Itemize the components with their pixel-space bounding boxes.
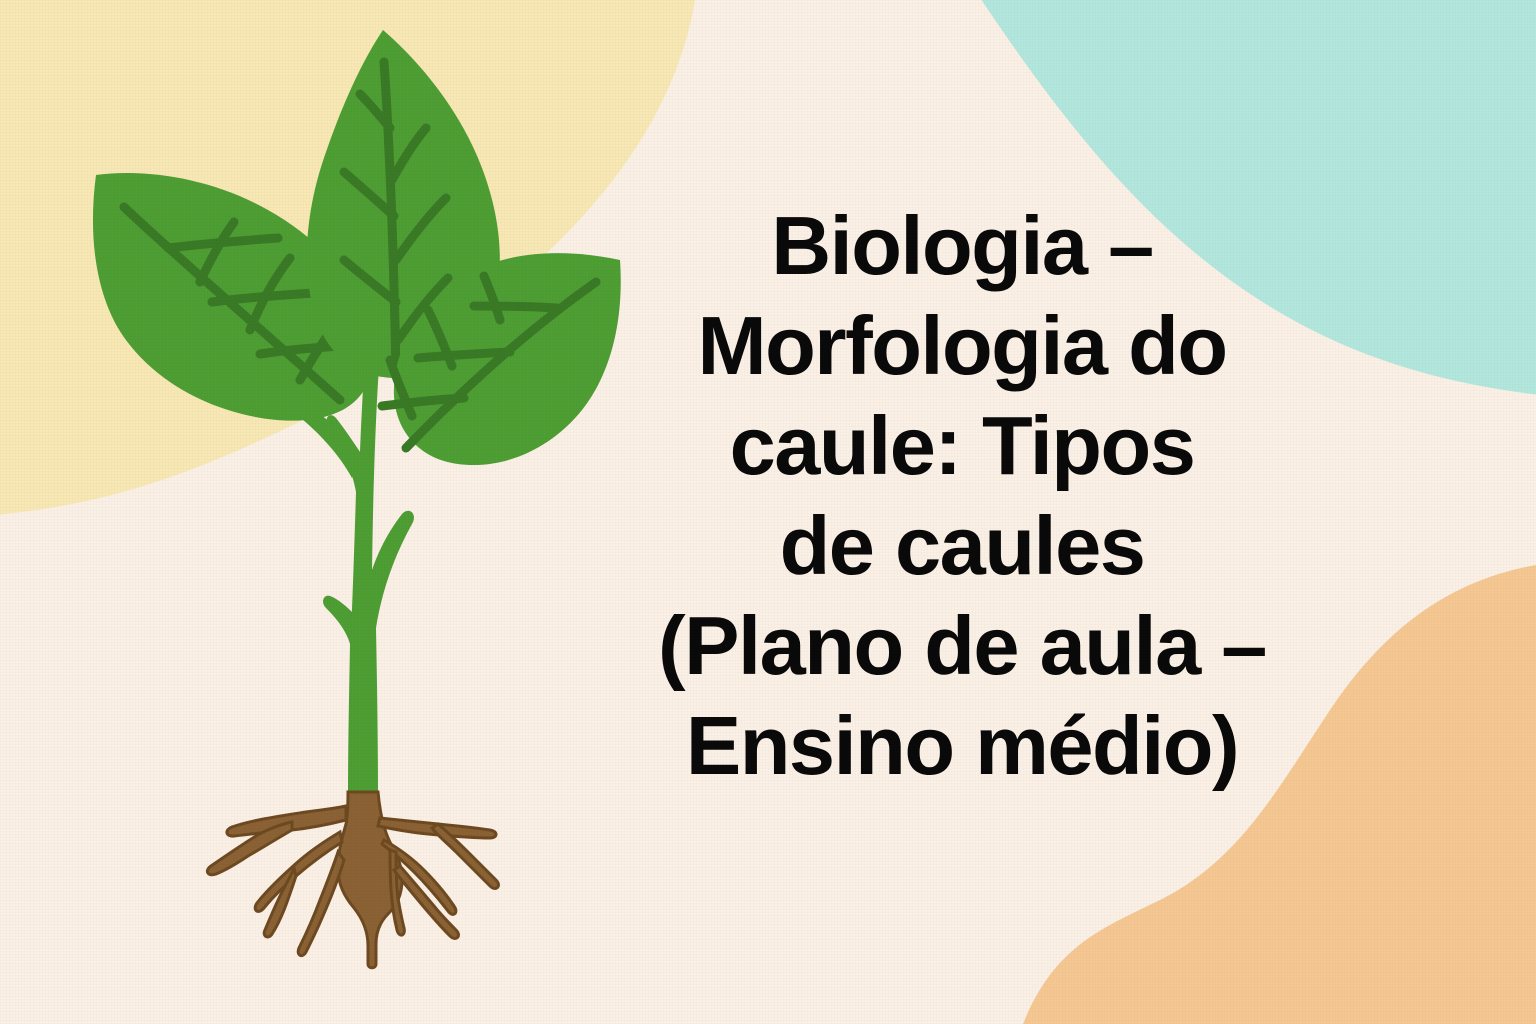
title-line-4: de caules	[612, 496, 1312, 596]
title-line-5: (Plano de aula –	[612, 596, 1312, 696]
roots	[207, 792, 498, 968]
title-line-3: caule: Tipos	[612, 396, 1312, 496]
title-line-2: Morfologia do	[612, 296, 1312, 396]
title-line-6: Ensino médio)	[612, 696, 1312, 796]
title-line-1: Biologia –	[612, 196, 1312, 296]
plant-group	[93, 30, 621, 968]
page-title: Biologia – Morfologia do caule: Tipos de…	[612, 196, 1312, 796]
slide-canvas: Biologia – Morfologia do caule: Tipos de…	[0, 0, 1536, 1024]
